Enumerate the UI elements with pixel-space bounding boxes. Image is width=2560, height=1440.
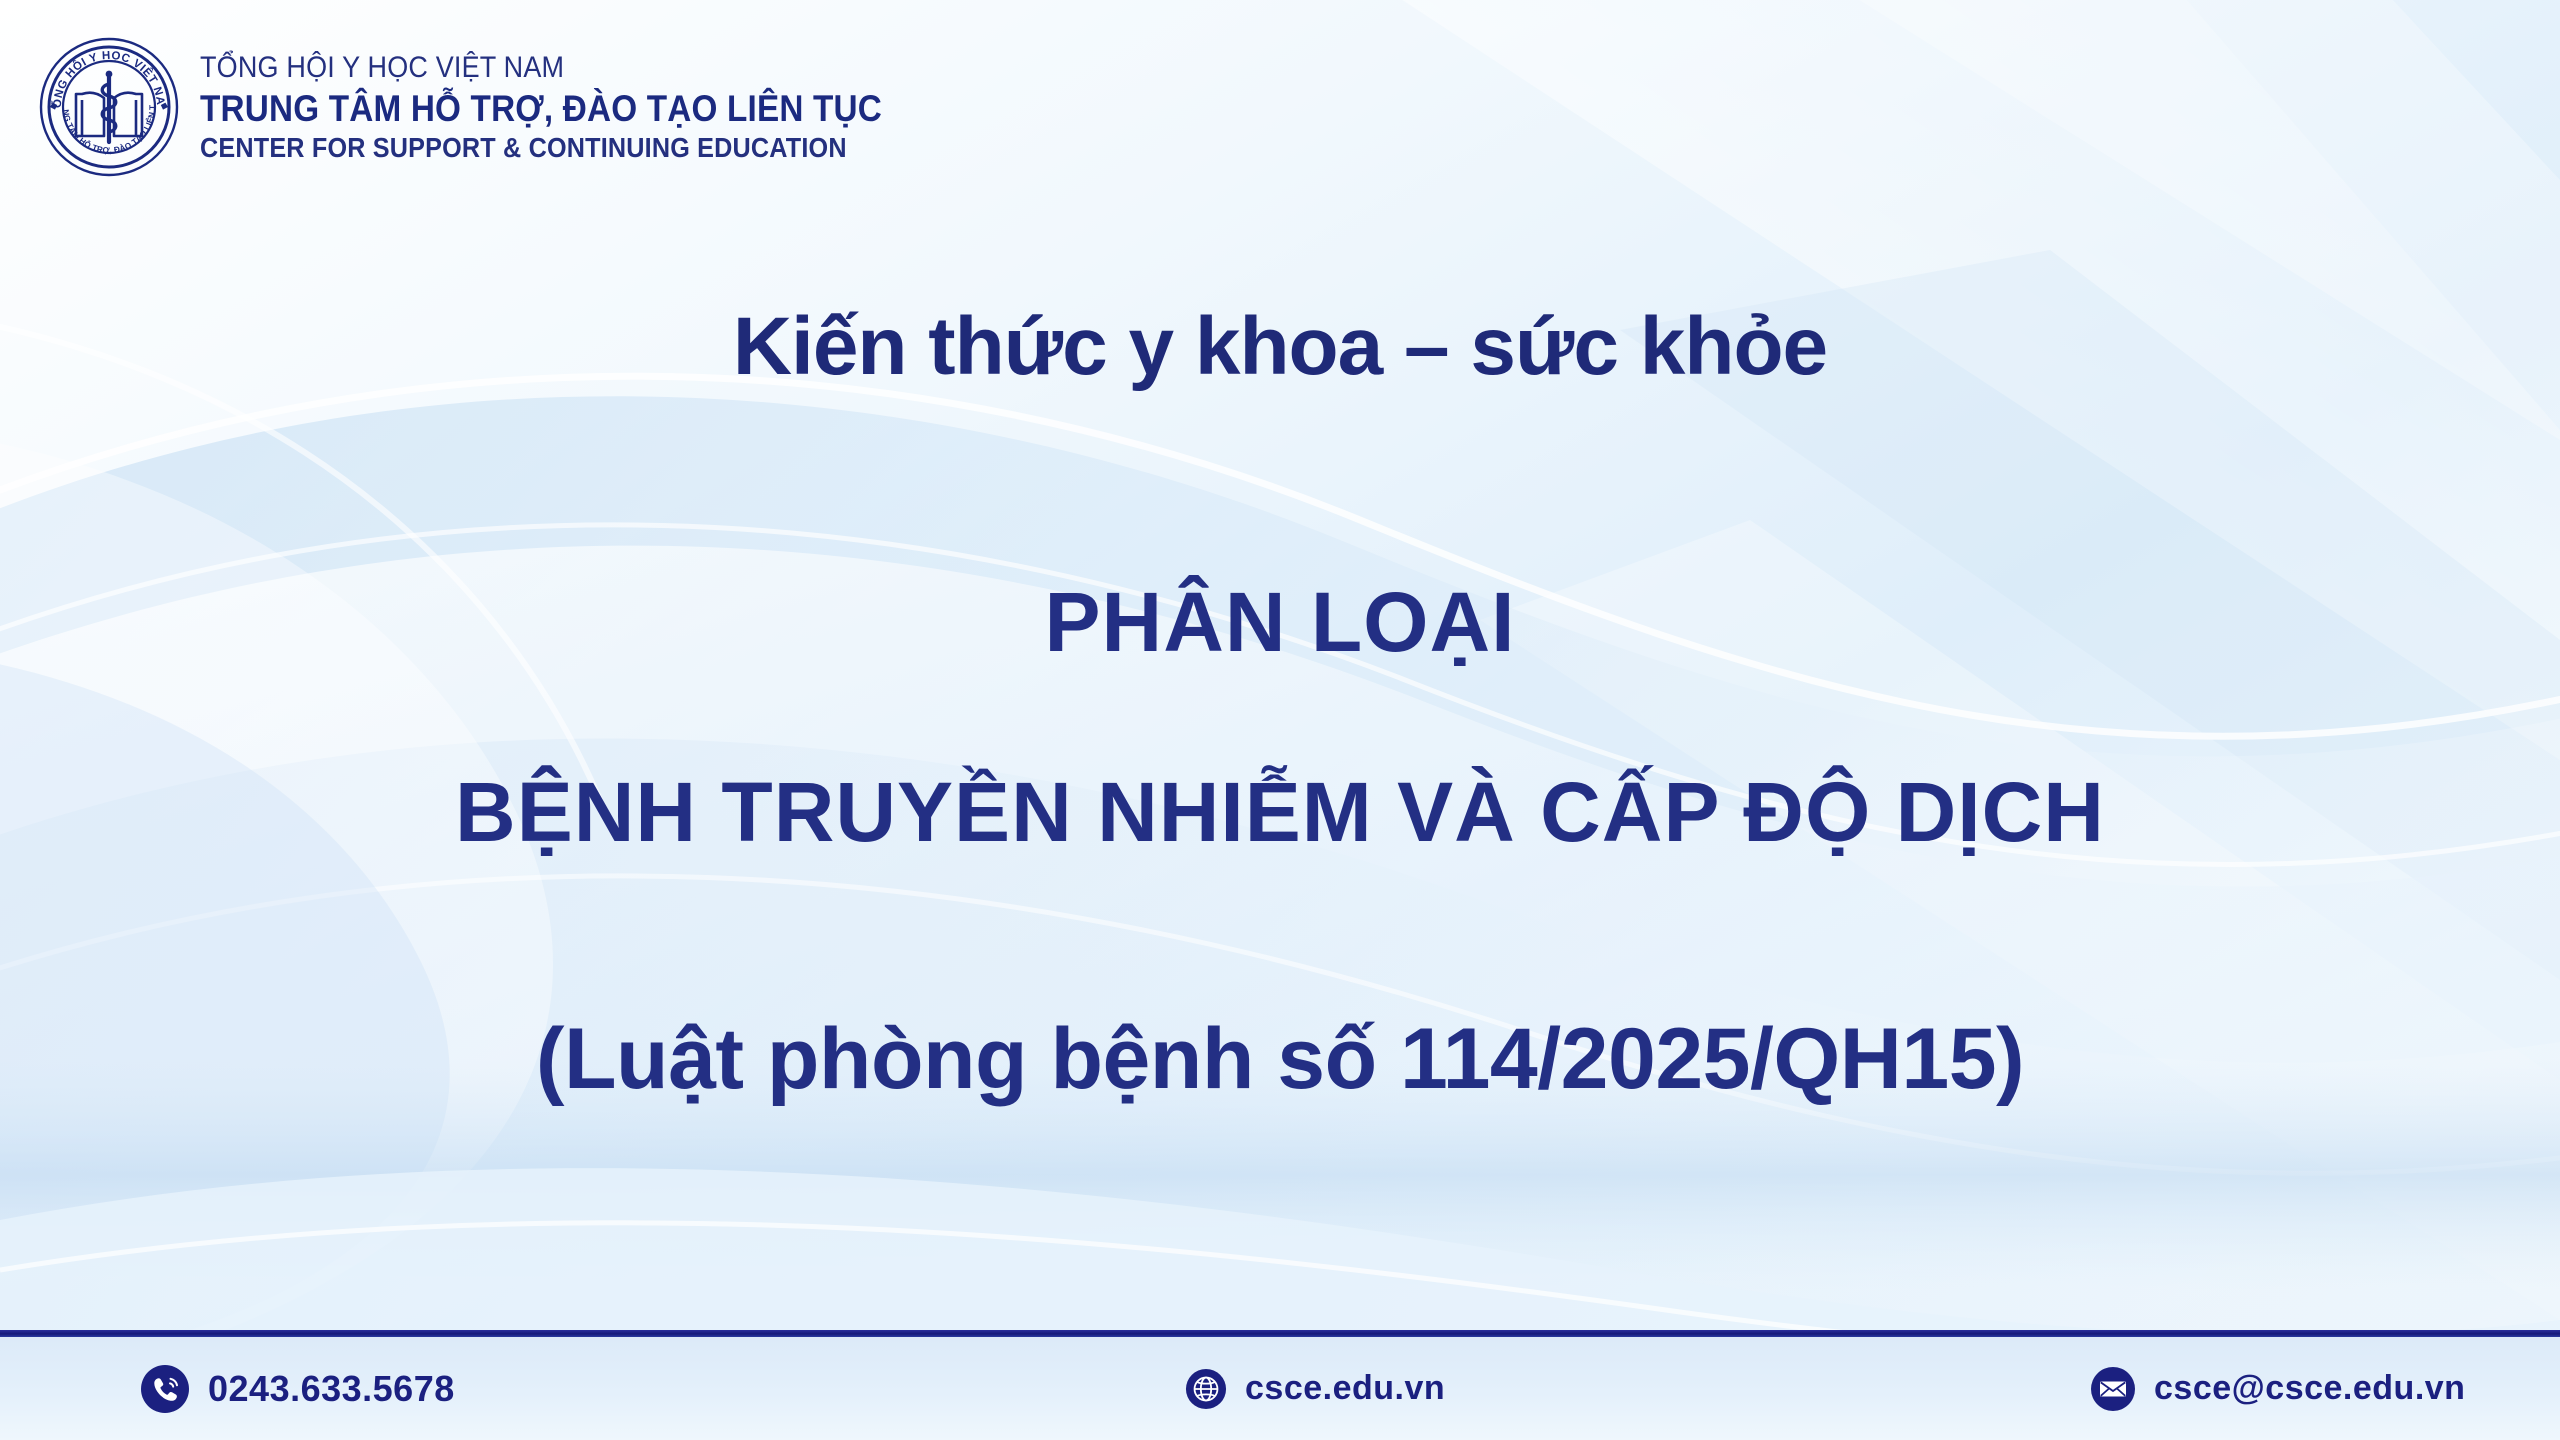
- slide-title-block: PHÂN LOẠI BỆNH TRUYỀN NHIỄM VÀ CẤP ĐỘ DỊ…: [0, 575, 2560, 859]
- seal-icon: TỔNG HỘI Y HỌC VIỆT NAM TRUNG TÂM HỖ TRỢ…: [38, 36, 180, 178]
- footer-phone-value: 0243.633.5678: [208, 1368, 455, 1410]
- org-line-society: TỔNG HỘI Y HỌC VIỆT NAM: [200, 53, 882, 83]
- organization-name-block: TỔNG HỘI Y HỌC VIỆT NAM TRUNG TÂM HỖ TRỢ…: [200, 53, 958, 162]
- org-line-center-vi: TRUNG TÂM HỖ TRỢ, ĐÀO TẠO LIÊN TỤC: [200, 90, 882, 127]
- vma-seal-logo: TỔNG HỘI Y HỌC VIỆT NAM TRUNG TÂM HỖ TRỢ…: [38, 36, 180, 178]
- slide-title-line1: PHÂN LOẠI: [0, 575, 2560, 669]
- brand-header: TỔNG HỘI Y HỌC VIỆT NAM TRUNG TÂM HỖ TRỢ…: [38, 36, 958, 178]
- footer-contact-bar: 0243.633.5678 csce.edu.vn: [0, 1337, 2560, 1440]
- footer-website-value: csce.edu.vn: [1245, 1369, 1445, 1408]
- slide-title-line2: BỆNH TRUYỀN NHIỄM VÀ CẤP ĐỘ DỊCH: [0, 765, 2560, 859]
- envelope-icon: [2090, 1366, 2136, 1412]
- footer-website-item[interactable]: csce.edu.vn: [1185, 1368, 1445, 1410]
- phone-icon: [140, 1364, 190, 1414]
- footer-phone-item[interactable]: 0243.633.5678: [140, 1364, 455, 1414]
- globe-icon: [1185, 1368, 1227, 1410]
- slide-subtitle: Kiến thức y khoa – sức khỏe: [0, 300, 2560, 394]
- org-line-center-en: CENTER FOR SUPPORT & CONTINUING EDUCATIO…: [200, 134, 882, 162]
- footer-email-item[interactable]: csce@csce.edu.vn: [2090, 1366, 2465, 1412]
- footer-divider: [0, 1330, 2560, 1337]
- footer-email-value: csce@csce.edu.vn: [2154, 1369, 2465, 1408]
- slide-canvas: TỔNG HỘI Y HỌC VIỆT NAM TRUNG TÂM HỖ TRỢ…: [0, 0, 2560, 1440]
- slide-law-reference: (Luật phòng bệnh số 114/2025/QH15): [0, 1010, 2560, 1109]
